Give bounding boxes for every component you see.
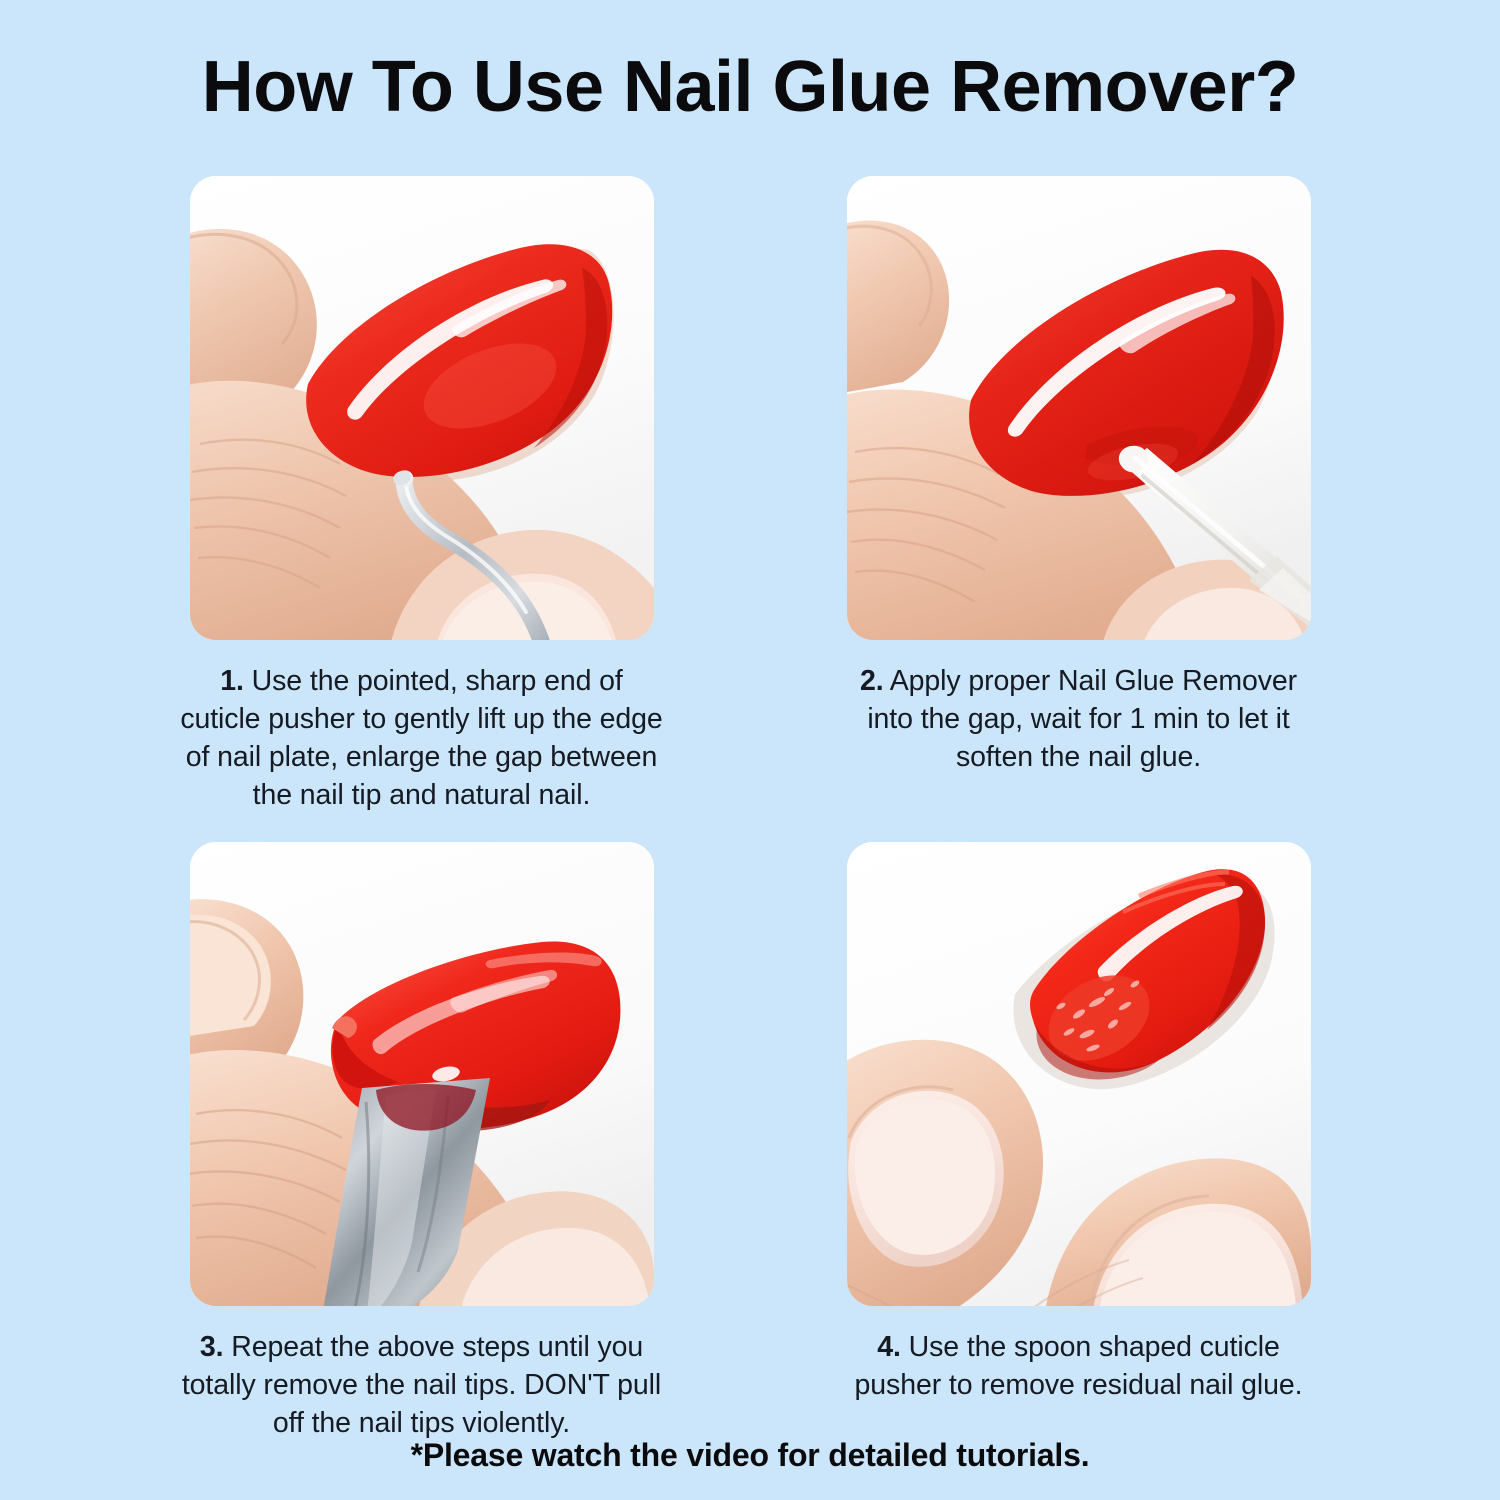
step-4-caption: 4. Use the spoon shaped cuticle pusher t… <box>836 1328 1322 1404</box>
step-2: 2. Apply proper Nail Glue Remover into t… <box>847 176 1311 814</box>
step-4-photo <box>847 842 1311 1306</box>
step-3-photo <box>190 842 654 1306</box>
steps-grid: 1. Use the pointed, sharp end of cuticle… <box>0 176 1500 1442</box>
step-4-number: 4. <box>877 1331 901 1363</box>
step-1-text: Use the pointed, sharp end of cuticle pu… <box>180 665 662 811</box>
step-1-photo <box>190 176 654 640</box>
step-4-text: Use the spoon shaped cuticle pusher to r… <box>855 1331 1303 1401</box>
step-3-number: 3. <box>200 1331 224 1363</box>
infographic-page: How To Use Nail Glue Remover? <box>0 0 1500 1500</box>
step-2-number: 2. <box>860 665 884 697</box>
step-3: 3. Repeat the above steps until you tota… <box>190 842 654 1442</box>
step-1: 1. Use the pointed, sharp end of cuticle… <box>190 176 654 814</box>
steps-row-bottom: 3. Repeat the above steps until you tota… <box>0 842 1500 1442</box>
step-3-caption: 3. Repeat the above steps until you tota… <box>179 1328 665 1442</box>
step-2-caption: 2. Apply proper Nail Glue Remover into t… <box>836 662 1322 776</box>
step-1-caption: 1. Use the pointed, sharp end of cuticle… <box>179 662 665 814</box>
footer-note: *Please watch the video for detailed tut… <box>0 1434 1500 1476</box>
step-2-photo <box>847 176 1311 640</box>
steps-row-top: 1. Use the pointed, sharp end of cuticle… <box>0 176 1500 814</box>
step-3-text: Repeat the above steps until you totally… <box>182 1331 661 1439</box>
step-2-text: Apply proper Nail Glue Remover into the … <box>867 665 1297 773</box>
step-1-number: 1. <box>220 665 244 697</box>
page-title: How To Use Nail Glue Remover? <box>0 44 1500 130</box>
step-4: 4. Use the spoon shaped cuticle pusher t… <box>847 842 1311 1442</box>
